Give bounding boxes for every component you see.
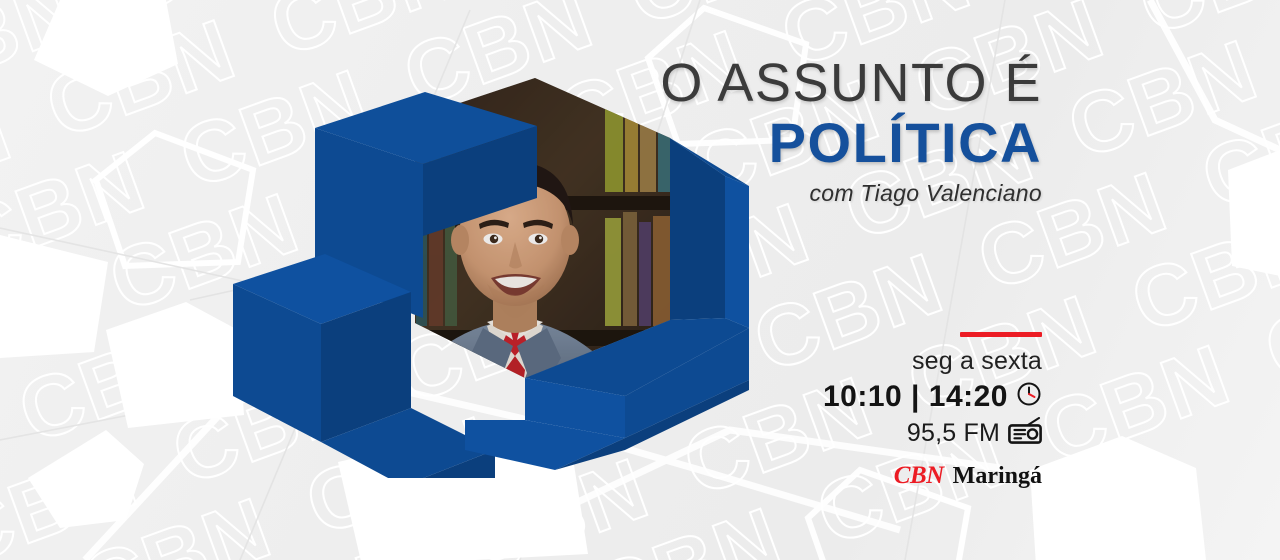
radio-program-banner: CBN CBN CBN CBN CBN CBN CBN CBN CBN CBN … [0, 0, 1280, 560]
page-title-emphasis: POLÍTICA [660, 114, 1042, 173]
clock-icon [1016, 381, 1042, 412]
schedule-times: 10:10 | 14:20 [823, 380, 1008, 413]
schedule-days: seg a sexta [792, 347, 1042, 376]
schedule-frequency-row: 95,5 FM [792, 417, 1042, 450]
host-credit: com Tiago Valenciano [660, 181, 1042, 206]
schedule-frequency: 95,5 FM [907, 420, 1000, 448]
brand-network-label: CBN [894, 462, 944, 490]
red-divider [960, 332, 1042, 337]
page-title: O ASSUNTO É [660, 56, 1042, 110]
schedule-times-row: 10:10 | 14:20 [792, 380, 1042, 413]
brand-city-label: Maringá [953, 463, 1042, 490]
radio-icon [1008, 417, 1042, 450]
station-brand: CBN Maringá [792, 462, 1042, 490]
schedule-block: seg a sexta 10:10 | 14:20 95,5 FM [792, 332, 1042, 490]
program-title-block: O ASSUNTO É POLÍTICA com Tiago Valencian… [660, 56, 1042, 206]
